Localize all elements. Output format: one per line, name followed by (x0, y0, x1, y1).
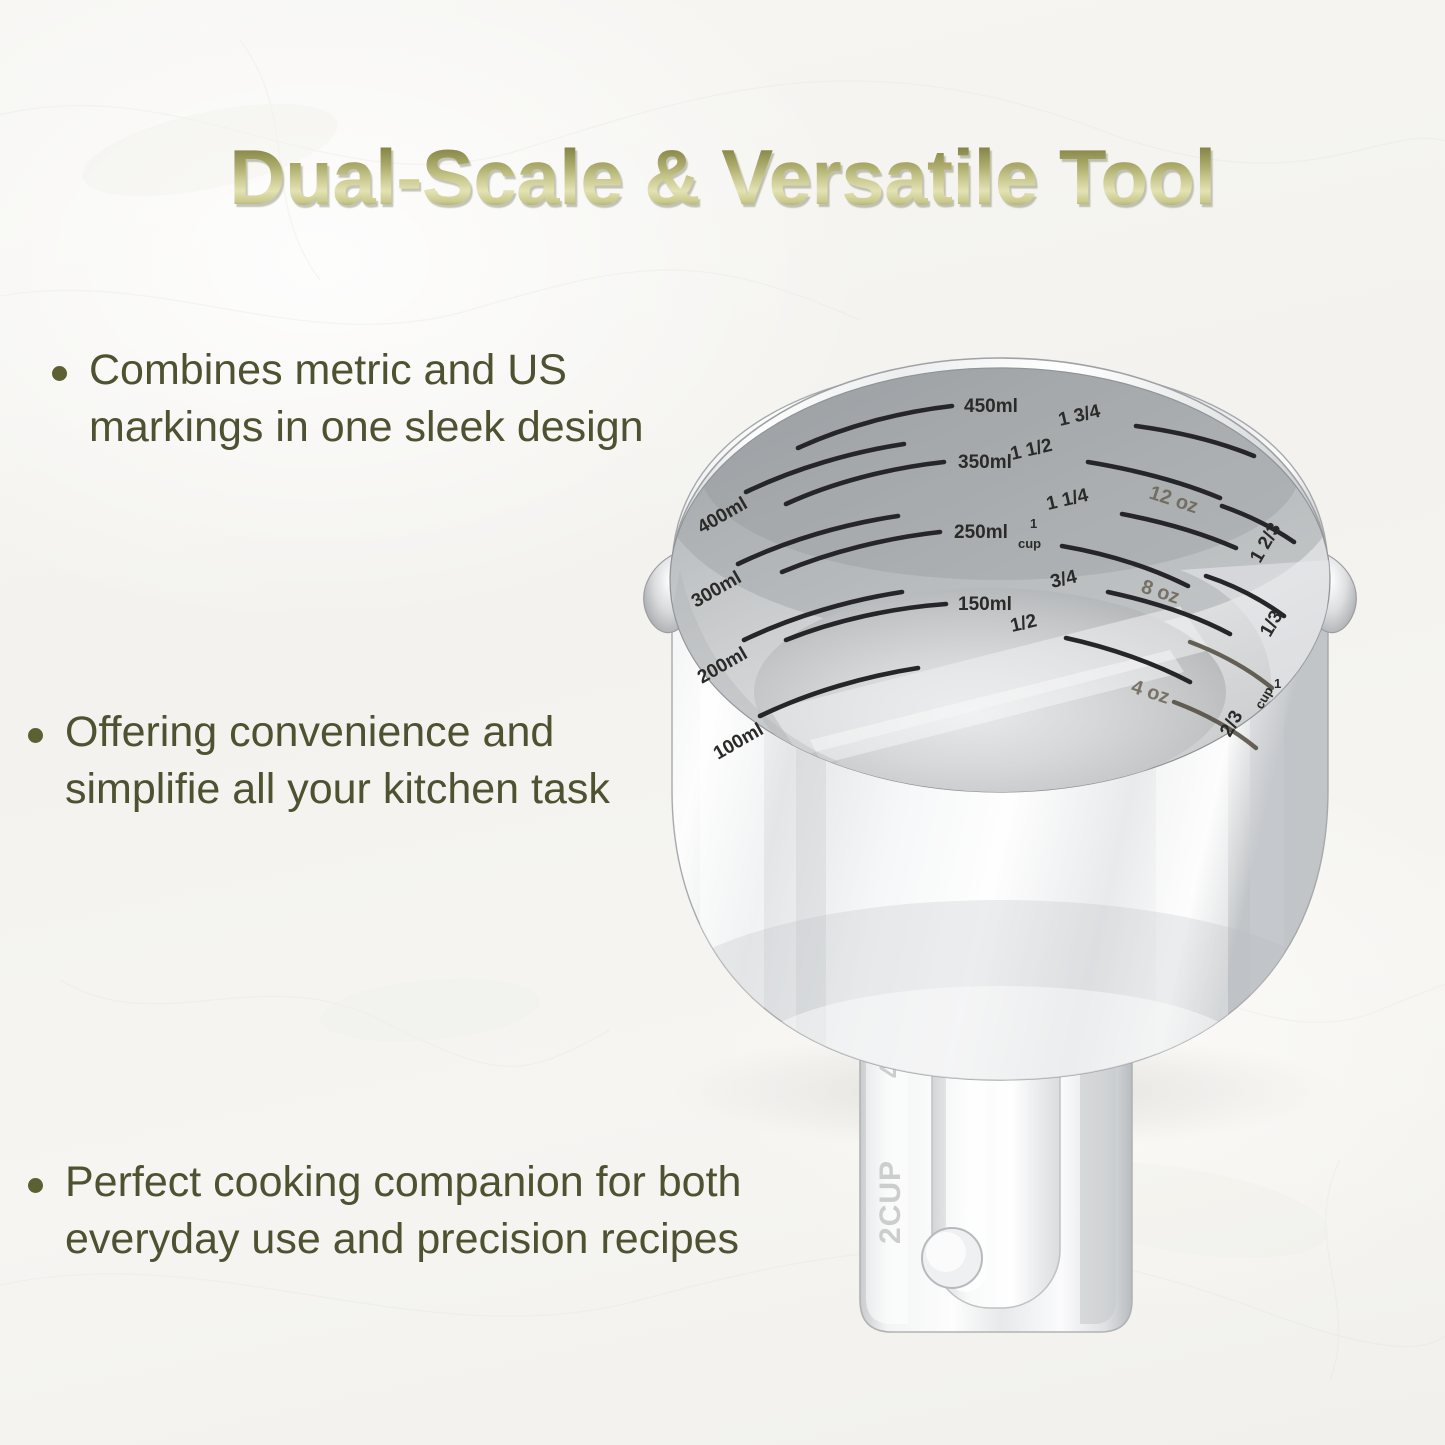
bullet-dot-icon (28, 728, 43, 743)
page-title-container: Dual-Scale & Versatile Tool (0, 138, 1445, 216)
us-label-1-cup-number: 1 (1030, 516, 1037, 531)
bullet-dot-icon (28, 1178, 43, 1193)
us-label-right-1-cup-number: 1 (1274, 676, 1281, 691)
metric-label-250ml: 250ml (954, 522, 1008, 543)
bullet-dot-icon (52, 366, 67, 381)
infographic-page: Dual-Scale & Versatile Tool Combines met… (0, 0, 1445, 1445)
product-image-measuring-cup: 480ml 2CUP (560, 320, 1440, 1380)
metric-label-450ml: 450ml (964, 396, 1018, 417)
feature-bullet-2: Offering convenience and simplifie all y… (28, 704, 628, 818)
us-label-1-cup-word: cup (1018, 536, 1041, 551)
page-title: Dual-Scale & Versatile Tool (229, 138, 1215, 216)
metric-label-350ml: 350ml (958, 452, 1012, 473)
handle-capacity-cup: 2CUP (874, 1160, 907, 1244)
metric-label-150ml: 150ml (958, 594, 1012, 615)
feature-bullet-2-text: Offering convenience and simplifie all y… (65, 704, 628, 818)
